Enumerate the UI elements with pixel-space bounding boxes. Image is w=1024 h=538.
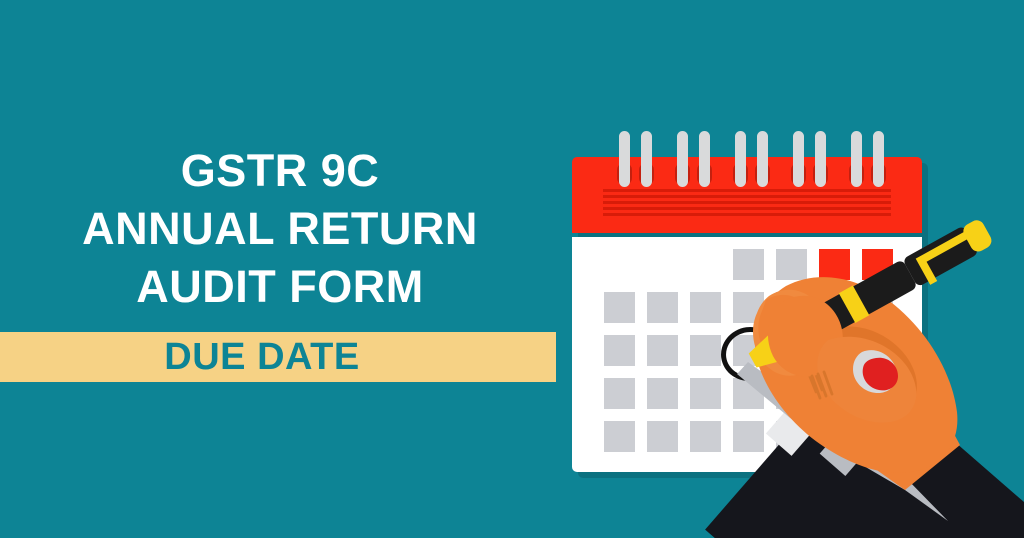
calendar-cell[interactable] (690, 421, 721, 452)
calendar-cell[interactable] (733, 249, 764, 280)
due-date-label: DUE DATE (164, 338, 359, 376)
spiral-ring-icon (641, 131, 652, 187)
calendar-header-rule (603, 213, 891, 216)
calendar-cell[interactable] (776, 249, 807, 280)
due-date-banner: DUE DATE (0, 332, 556, 382)
calendar-cell-highlight[interactable] (819, 249, 850, 280)
calendar-cell[interactable] (604, 292, 635, 323)
calendar-cell[interactable] (604, 335, 635, 366)
spiral-ring-icon (699, 131, 710, 187)
calendar-cell[interactable] (647, 378, 678, 409)
calendar-cell[interactable] (647, 292, 678, 323)
spiral-ring-icon (735, 131, 746, 187)
calendar-cell[interactable] (647, 421, 678, 452)
calendar-header-rule (603, 201, 891, 204)
spiral-ring-icon (873, 131, 884, 187)
calendar-cell[interactable] (604, 378, 635, 409)
pen-cap-end (960, 217, 994, 254)
headline-line-3: AUDIT FORM (0, 258, 560, 316)
headline-line-2: ANNUAL RETURN (0, 200, 560, 258)
spiral-ring-icon (757, 131, 768, 187)
spiral-ring-icon (793, 131, 804, 187)
calendar-header-rule (603, 207, 891, 210)
spiral-ring-icon (815, 131, 826, 187)
calendar-cell[interactable] (776, 292, 807, 323)
calendar-cell[interactable] (862, 335, 893, 366)
calendar-cell[interactable] (647, 335, 678, 366)
spiral-ring-icon (619, 131, 630, 187)
calendar-cell[interactable] (733, 292, 764, 323)
calendar-cell[interactable] (604, 421, 635, 452)
headline-block: GSTR 9C ANNUAL RETURN AUDIT FORM (0, 142, 560, 316)
calendar-cell[interactable] (776, 335, 807, 366)
promotional-banner: GSTR 9C ANNUAL RETURN AUDIT FORM DUE DAT… (0, 0, 1024, 538)
calendar-cell[interactable] (690, 292, 721, 323)
calendar-cell[interactable] (819, 292, 850, 323)
calendar-cell-highlight[interactable] (862, 249, 893, 280)
calendar-cell[interactable] (690, 378, 721, 409)
calendar-cell[interactable] (733, 378, 764, 409)
headline-line-1: GSTR 9C (0, 142, 560, 200)
spiral-ring-icon (851, 131, 862, 187)
calendar-cell[interactable] (733, 421, 764, 452)
calendar-header-rule (603, 195, 891, 198)
calendar-header-rule (603, 189, 891, 192)
spiral-ring-icon (677, 131, 688, 187)
calendar-cell[interactable] (862, 292, 893, 323)
calendar-cell[interactable] (690, 335, 721, 366)
